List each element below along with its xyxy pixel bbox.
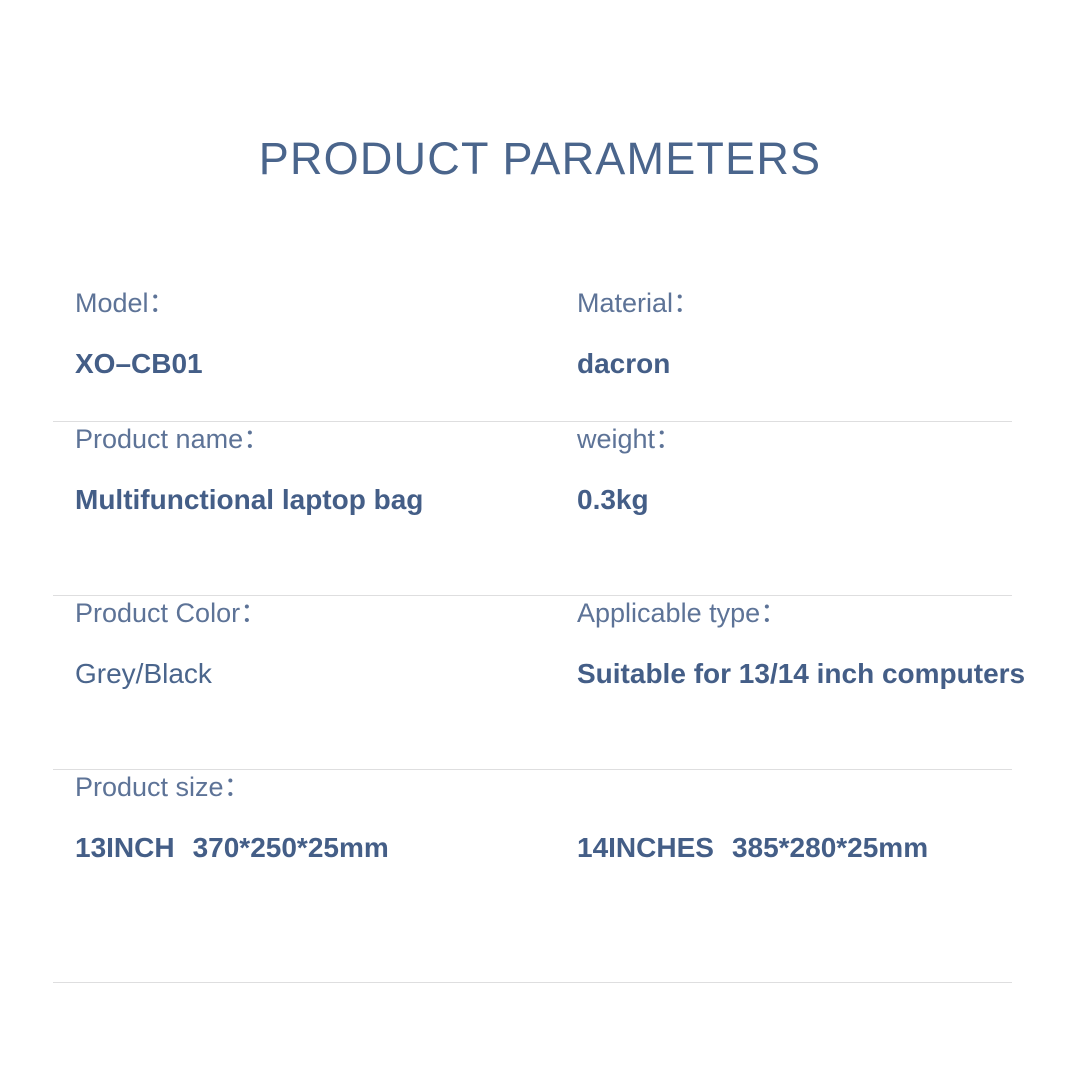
spec-cell-product-name: Product name： Multifunctional laptop bag bbox=[53, 422, 577, 518]
page-title: PRODUCT PARAMETERS bbox=[0, 129, 1080, 189]
product-size-values: 13INCH370*250*25mm 14INCHES385*280*25mm bbox=[75, 830, 1012, 866]
spec-row-name-weight: Product name： Multifunctional laptop bag… bbox=[53, 422, 1012, 596]
spec-row-product-size: Product size： 13INCH370*250*25mm 14INCHE… bbox=[53, 770, 1012, 983]
spec-cell-model: Model： XO–CB01 bbox=[53, 286, 577, 382]
spec-label-product-color: Product Color： bbox=[75, 596, 577, 630]
spec-value-model: XO–CB01 bbox=[75, 346, 577, 382]
spec-cell-product-size: Product size： 13INCH370*250*25mm 14INCHE… bbox=[53, 770, 1012, 866]
product-parameters-page: PRODUCT PARAMETERS Model： XO–CB01 Materi… bbox=[0, 0, 1080, 1080]
product-size-13inch-unit: 13INCH bbox=[75, 832, 175, 863]
spec-label-applicable-type: Applicable type： bbox=[577, 596, 1012, 630]
spec-label-weight: weight： bbox=[577, 422, 1012, 456]
spec-row-color-type: Product Color： Grey/Black Applicable typ… bbox=[53, 596, 1012, 770]
spec-cell-material: Material： dacron bbox=[577, 286, 1012, 382]
spec-value-weight: 0.3kg bbox=[577, 482, 1012, 518]
spec-label-product-name: Product name： bbox=[75, 422, 577, 456]
spec-value-applicable-type: Suitable for 13/14 inch computers bbox=[577, 656, 1012, 692]
product-size-14inch-dimensions: 385*280*25mm bbox=[732, 832, 928, 863]
product-size-13inch: 13INCH370*250*25mm bbox=[75, 830, 577, 866]
spec-label-model: Model： bbox=[75, 286, 577, 320]
product-size-13inch-dimensions: 370*250*25mm bbox=[193, 832, 389, 863]
product-size-14inch: 14INCHES385*280*25mm bbox=[577, 830, 1012, 866]
spec-value-product-name: Multifunctional laptop bag bbox=[75, 482, 577, 518]
spec-row-model-material: Model： XO–CB01 Material： dacron bbox=[53, 286, 1012, 422]
spec-cell-product-color: Product Color： Grey/Black bbox=[53, 596, 577, 692]
spec-cell-weight: weight： 0.3kg bbox=[577, 422, 1012, 518]
spec-value-material: dacron bbox=[577, 346, 1012, 382]
specification-table: Model： XO–CB01 Material： dacron Product … bbox=[53, 286, 1012, 983]
spec-label-product-size: Product size： bbox=[75, 770, 1012, 804]
spec-cell-applicable-type: Applicable type： Suitable for 13/14 inch… bbox=[577, 596, 1012, 692]
product-size-14inch-unit: 14INCHES bbox=[577, 832, 714, 863]
spec-value-product-color: Grey/Black bbox=[75, 656, 577, 692]
spec-label-material: Material： bbox=[577, 286, 1012, 320]
